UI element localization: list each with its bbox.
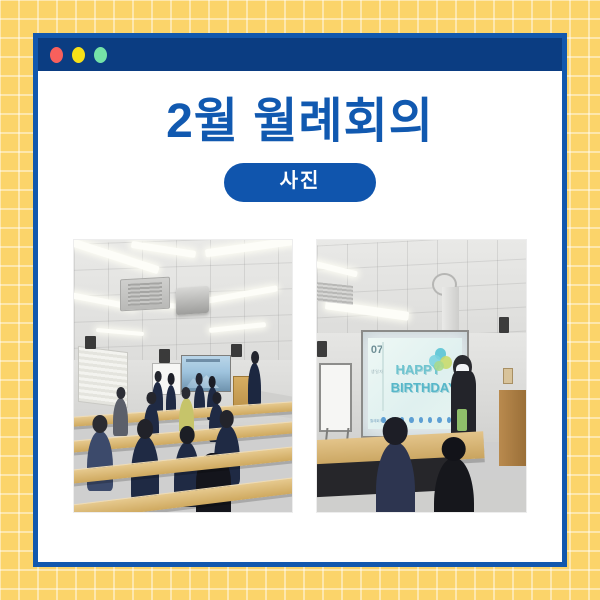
browser-window-frame: 2월 월례회의 사진 bbox=[33, 33, 567, 567]
balloon bbox=[434, 361, 444, 371]
slide-dot bbox=[437, 417, 441, 423]
slide-subtitle: 생일자 bbox=[371, 369, 384, 375]
wall-speaker bbox=[317, 341, 327, 357]
birthday-slide: 07 생일자 HAPPY BIRTHDAY bbox=[368, 338, 462, 429]
slide-divider bbox=[382, 342, 384, 411]
slide-dot bbox=[419, 417, 423, 423]
photo-badge[interactable]: 사진 bbox=[224, 163, 377, 202]
photo-right[interactable]: 07 생일자 HAPPY BIRTHDAY bbox=[317, 240, 526, 512]
attendee-head bbox=[383, 417, 408, 445]
seminar-room-scene: 07 생일자 HAPPY BIRTHDAY bbox=[317, 240, 526, 512]
lecture-hall-scene bbox=[74, 240, 292, 512]
attendee-head bbox=[168, 373, 175, 385]
slide-heading-line2: BIRTHDAY bbox=[391, 380, 446, 395]
projection-screen bbox=[181, 355, 231, 392]
badge-row: 사진 bbox=[38, 163, 562, 202]
slide-title-bar bbox=[186, 359, 221, 362]
maximize-dot[interactable] bbox=[94, 47, 107, 63]
wall-speaker bbox=[231, 344, 242, 358]
wall-speaker bbox=[499, 317, 509, 333]
ceiling-projector bbox=[176, 285, 209, 314]
wall-speaker bbox=[85, 336, 96, 350]
page-title: 2월 월례회의 bbox=[38, 71, 562, 147]
balloon-cluster bbox=[429, 347, 453, 374]
attendee-head bbox=[180, 426, 195, 444]
attendee-head bbox=[93, 415, 108, 433]
slide-dot bbox=[409, 417, 413, 423]
photo-left[interactable] bbox=[74, 240, 292, 512]
photo-gallery: 07 생일자 HAPPY BIRTHDAY bbox=[38, 240, 562, 512]
attendee-head bbox=[442, 437, 467, 461]
ceiling-vent bbox=[317, 282, 353, 305]
whiteboard bbox=[319, 363, 352, 432]
slide-footer-left: 월례회의 bbox=[370, 419, 383, 424]
ceiling-column bbox=[442, 287, 459, 331]
attendee-head bbox=[209, 376, 216, 388]
close-dot[interactable] bbox=[50, 47, 63, 63]
wall-speaker bbox=[159, 349, 170, 363]
wooden-door bbox=[499, 390, 526, 466]
slide-dot bbox=[428, 417, 432, 423]
minimize-dot[interactable] bbox=[72, 47, 85, 63]
poster-card: 2월 월례회의 사진 bbox=[0, 0, 600, 600]
presenter-head bbox=[251, 351, 259, 364]
held-item bbox=[457, 409, 467, 431]
attendee-head bbox=[155, 371, 162, 383]
attendee-head bbox=[137, 419, 153, 439]
attendee-head bbox=[196, 373, 203, 385]
window-content: 2월 월례회의 사진 bbox=[38, 71, 562, 562]
attendee-head bbox=[219, 410, 234, 428]
window-titlebar bbox=[38, 38, 562, 71]
wall-outlet bbox=[503, 368, 513, 384]
air-conditioner-unit bbox=[120, 277, 170, 312]
